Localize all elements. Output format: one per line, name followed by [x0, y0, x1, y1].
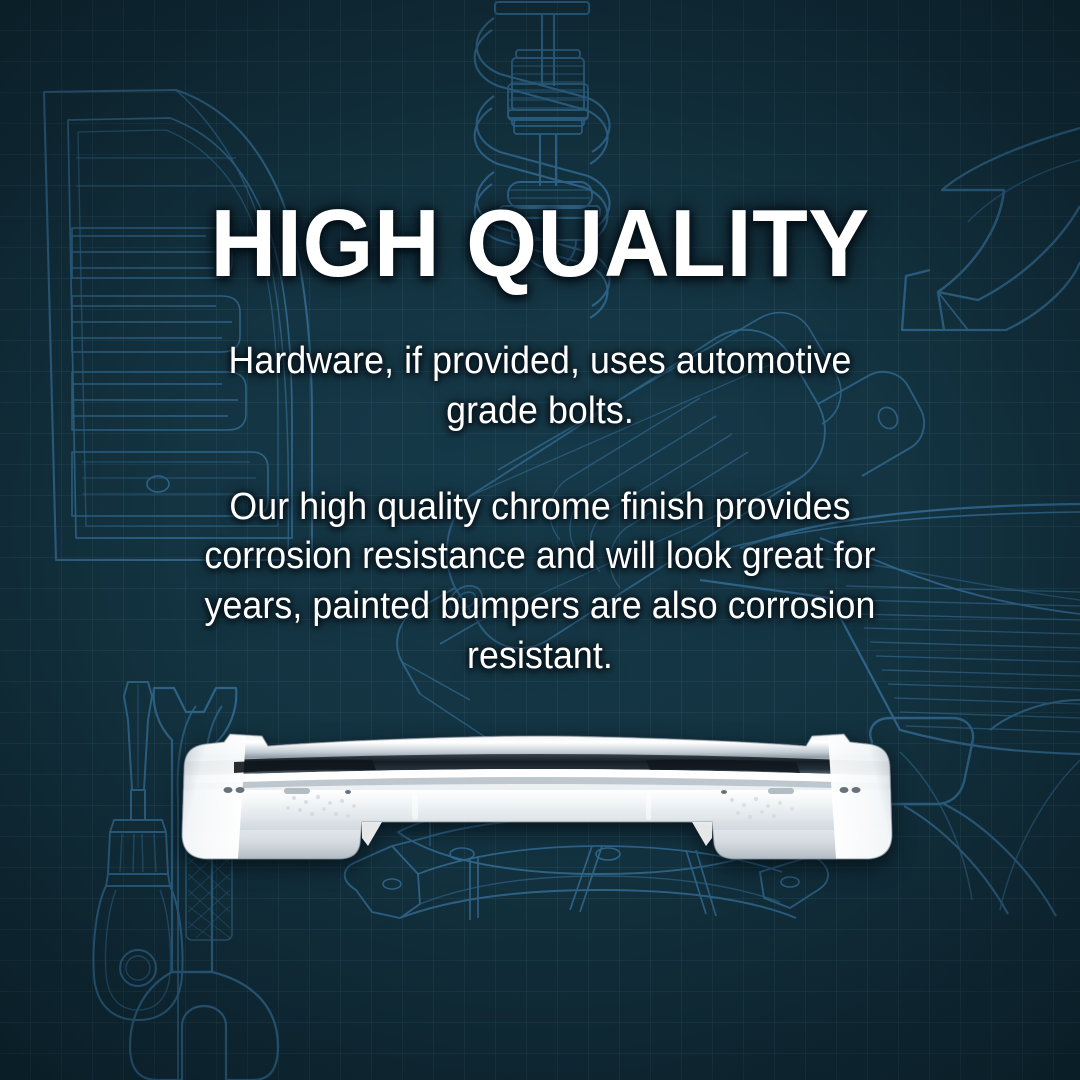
- promo-graphic-canvas: HIGH QUALITY Hardware, if provided, uses…: [0, 0, 1080, 1080]
- text-content-block: HIGH QUALITY Hardware, if provided, uses…: [0, 0, 1080, 682]
- paragraph-hardware: Hardware, if provided, uses automotive g…: [183, 337, 897, 437]
- product-image-chrome-bumper: [176, 726, 898, 866]
- paragraph-chrome-finish: Our high quality chrome finish provides …: [169, 483, 912, 682]
- page-title: HIGH QUALITY: [27, 0, 1053, 292]
- screwdriver-blueprint: [94, 682, 183, 1020]
